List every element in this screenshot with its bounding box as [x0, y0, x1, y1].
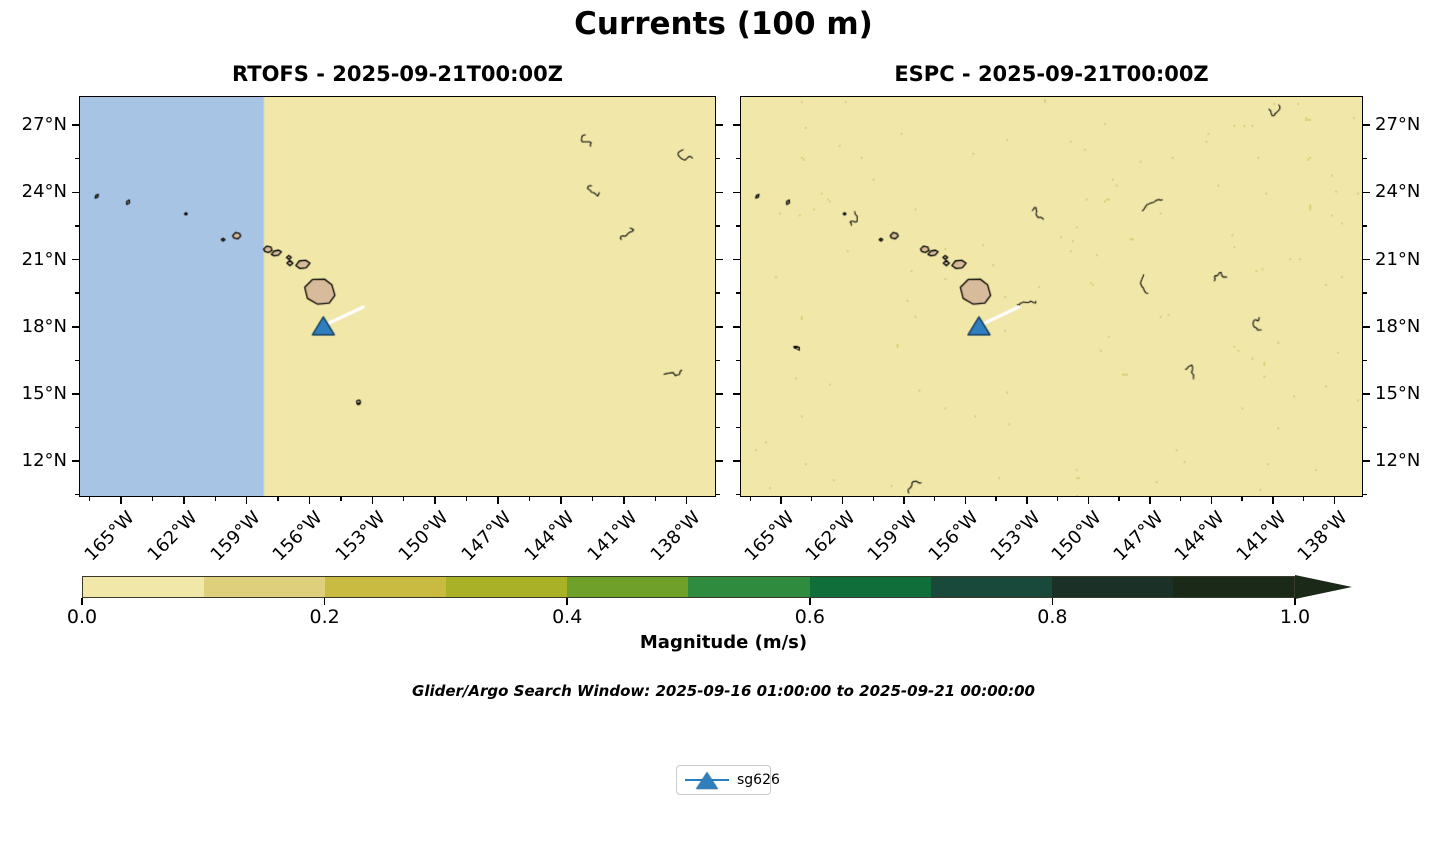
- x-tick-major: [623, 497, 625, 504]
- colorbar-band-9: [1173, 577, 1294, 597]
- colorbar-band-5: [688, 577, 809, 597]
- colorbar-band-7: [931, 577, 1052, 597]
- x-tick-major: [686, 497, 688, 504]
- y-tick-major: [733, 192, 740, 194]
- colorbar-band-1: [204, 577, 325, 597]
- x-axis-tick-label: 156°W: [925, 508, 982, 565]
- y-axis-tick-label: 21°N: [1375, 249, 1447, 270]
- x-tick-minor: [995, 497, 996, 501]
- x-axis-tick-label: 144°W: [1171, 508, 1228, 565]
- colorbar[interactable]: [82, 576, 1295, 598]
- colorbar-tick: [1052, 598, 1054, 605]
- y-tick-major: [733, 393, 740, 395]
- colorbar-tick-label: 0.8: [1017, 606, 1087, 628]
- x-axis-tick-label: 153°W: [332, 508, 389, 565]
- y-axis-tick-label: 18°N: [0, 316, 67, 337]
- colorbar-tick-label: 0.0: [47, 606, 117, 628]
- map-panel-rtofs[interactable]: [79, 96, 716, 497]
- y-tick-major: [733, 259, 740, 261]
- x-tick-major: [965, 497, 967, 504]
- y-tick-minor: [716, 158, 720, 159]
- y-tick-major: [72, 460, 79, 462]
- x-tick-major: [183, 497, 185, 504]
- y-tick-minor: [75, 360, 79, 361]
- x-tick-minor: [215, 497, 216, 501]
- y-tick-major: [72, 192, 79, 194]
- x-tick-major: [780, 497, 782, 504]
- y-tick-major: [1363, 192, 1370, 194]
- x-tick-minor: [750, 497, 751, 501]
- y-axis-tick-label: 24°N: [0, 181, 67, 202]
- y-tick-minor: [736, 158, 740, 159]
- y-tick-major: [716, 259, 723, 261]
- search-window-caption: Glider/Argo Search Window: 2025-09-16 01…: [0, 682, 1447, 700]
- x-tick-major: [434, 497, 436, 504]
- y-tick-minor: [736, 292, 740, 293]
- colorbar-label: Magnitude (m/s): [0, 632, 1447, 653]
- x-tick-major: [497, 497, 499, 504]
- triangle-up-icon: [696, 772, 718, 789]
- x-tick-minor: [529, 497, 530, 501]
- y-tick-minor: [716, 360, 720, 361]
- x-axis-tick-label: 147°W: [1109, 508, 1166, 565]
- x-tick-major: [903, 497, 905, 504]
- y-tick-major: [733, 326, 740, 328]
- x-tick-major: [246, 497, 248, 504]
- page-title: Currents (100 m): [0, 6, 1447, 42]
- colorbar-tick-label: 1.0: [1260, 606, 1330, 628]
- x-axis-tick-label: 144°W: [521, 508, 578, 565]
- y-tick-major: [1363, 259, 1370, 261]
- y-tick-major: [1363, 393, 1370, 395]
- y-tick-major: [72, 259, 79, 261]
- y-tick-major: [72, 326, 79, 328]
- colorbar-extend-arrow: [1295, 575, 1352, 599]
- x-tick-minor: [89, 497, 90, 501]
- figure-root: Currents (100 m) RTOFS - 2025-09-21T00:0…: [0, 0, 1447, 863]
- x-tick-major: [1334, 497, 1336, 504]
- y-axis-tick-label: 18°N: [1375, 316, 1447, 337]
- x-tick-minor: [934, 497, 935, 501]
- map-panel-espc[interactable]: [740, 96, 1363, 497]
- y-tick-minor: [736, 360, 740, 361]
- y-tick-major: [716, 192, 723, 194]
- map-canvas-espc: [741, 97, 1362, 496]
- y-tick-minor: [1363, 427, 1367, 428]
- x-tick-minor: [873, 497, 874, 501]
- x-axis-tick-label: 165°W: [80, 508, 137, 565]
- x-tick-minor: [1057, 497, 1058, 501]
- colorbar-tick-label: 0.4: [532, 606, 602, 628]
- x-axis-tick-label: 147°W: [458, 508, 515, 565]
- x-axis-tick-label: 141°W: [1232, 508, 1289, 565]
- y-tick-major: [733, 460, 740, 462]
- y-axis-tick-label: 12°N: [0, 450, 67, 471]
- y-tick-minor: [75, 494, 79, 495]
- y-tick-minor: [75, 427, 79, 428]
- x-axis-tick-label: 141°W: [583, 508, 640, 565]
- colorbar-band-2: [325, 577, 446, 597]
- colorbar-tick: [1294, 598, 1296, 605]
- x-axis-tick-label: 138°W: [646, 508, 703, 565]
- colorbar-band-8: [1052, 577, 1173, 597]
- x-axis-tick-label: 156°W: [269, 508, 326, 565]
- map-canvas-rtofs: [80, 97, 715, 496]
- x-axis-tick-label: 162°W: [143, 508, 200, 565]
- y-tick-minor: [75, 158, 79, 159]
- y-tick-minor: [75, 225, 79, 226]
- x-tick-minor: [466, 497, 467, 501]
- y-tick-major: [72, 124, 79, 126]
- colorbar-band-6: [810, 577, 931, 597]
- x-axis-tick-label: 162°W: [802, 508, 859, 565]
- legend[interactable]: sg626: [676, 765, 771, 795]
- x-axis-tick-label: 159°W: [206, 508, 263, 565]
- y-tick-minor: [1363, 494, 1367, 495]
- y-tick-minor: [716, 292, 720, 293]
- y-tick-major: [72, 393, 79, 395]
- x-tick-minor: [1241, 497, 1242, 501]
- x-tick-major: [842, 497, 844, 504]
- colorbar-tick: [324, 598, 326, 605]
- x-tick-major: [1026, 497, 1028, 504]
- x-axis-tick-label: 150°W: [395, 508, 452, 565]
- colorbar-tick: [81, 598, 83, 605]
- y-tick-major: [716, 124, 723, 126]
- y-tick-minor: [75, 292, 79, 293]
- x-tick-minor: [811, 497, 812, 501]
- y-axis-tick-label: 21°N: [0, 249, 67, 270]
- y-tick-minor: [1363, 158, 1367, 159]
- colorbar-tick-label: 0.6: [775, 606, 845, 628]
- x-tick-major: [120, 497, 122, 504]
- legend-marker-sample: [685, 769, 729, 791]
- y-tick-major: [1363, 460, 1370, 462]
- colorbar-band-3: [446, 577, 567, 597]
- x-tick-major: [1272, 497, 1274, 504]
- x-tick-minor: [655, 497, 656, 501]
- panel-title-rtofs: RTOFS - 2025-09-21T00:00Z: [79, 62, 716, 86]
- x-axis-tick-label: 153°W: [986, 508, 1043, 565]
- y-tick-major: [716, 393, 723, 395]
- x-tick-major: [309, 497, 311, 504]
- x-axis-tick-label: 150°W: [1048, 508, 1105, 565]
- x-axis-tick-label: 159°W: [864, 508, 921, 565]
- x-tick-minor: [277, 497, 278, 501]
- y-tick-major: [716, 326, 723, 328]
- y-tick-minor: [736, 427, 740, 428]
- legend-item-label: sg626: [737, 772, 780, 788]
- y-tick-major: [733, 124, 740, 126]
- x-tick-major: [1088, 497, 1090, 504]
- colorbar-tick: [566, 598, 568, 605]
- y-tick-major: [1363, 124, 1370, 126]
- x-tick-minor: [1118, 497, 1119, 501]
- x-tick-minor: [403, 497, 404, 501]
- y-tick-major: [1363, 326, 1370, 328]
- y-tick-minor: [1363, 360, 1367, 361]
- colorbar-band-0: [83, 577, 204, 597]
- y-tick-minor: [1363, 292, 1367, 293]
- x-tick-major: [1149, 497, 1151, 504]
- y-tick-minor: [1363, 225, 1367, 226]
- panel-title-espc: ESPC - 2025-09-21T00:00Z: [740, 62, 1363, 86]
- x-tick-major: [372, 497, 374, 504]
- x-tick-major: [1211, 497, 1213, 504]
- colorbar-tick-label: 0.2: [290, 606, 360, 628]
- x-tick-minor: [1303, 497, 1304, 501]
- y-tick-minor: [736, 494, 740, 495]
- y-tick-minor: [716, 427, 720, 428]
- x-axis-tick-label: 165°W: [741, 508, 798, 565]
- y-tick-minor: [736, 225, 740, 226]
- y-tick-minor: [716, 225, 720, 226]
- colorbar-band-4: [567, 577, 688, 597]
- x-tick-minor: [152, 497, 153, 501]
- colorbar-tick: [809, 598, 811, 605]
- x-tick-minor: [340, 497, 341, 501]
- y-axis-tick-label: 24°N: [1375, 181, 1447, 202]
- x-axis-tick-label: 138°W: [1294, 508, 1351, 565]
- y-axis-tick-label: 12°N: [1375, 450, 1447, 471]
- y-axis-tick-label: 15°N: [0, 383, 67, 404]
- y-tick-major: [716, 460, 723, 462]
- y-tick-minor: [716, 494, 720, 495]
- y-axis-tick-label: 27°N: [1375, 114, 1447, 135]
- colorbar-gradient: [82, 576, 1295, 598]
- x-tick-minor: [1180, 497, 1181, 501]
- x-tick-major: [560, 497, 562, 504]
- x-tick-minor: [592, 497, 593, 501]
- y-axis-tick-label: 15°N: [1375, 383, 1447, 404]
- y-axis-tick-label: 27°N: [0, 114, 67, 135]
